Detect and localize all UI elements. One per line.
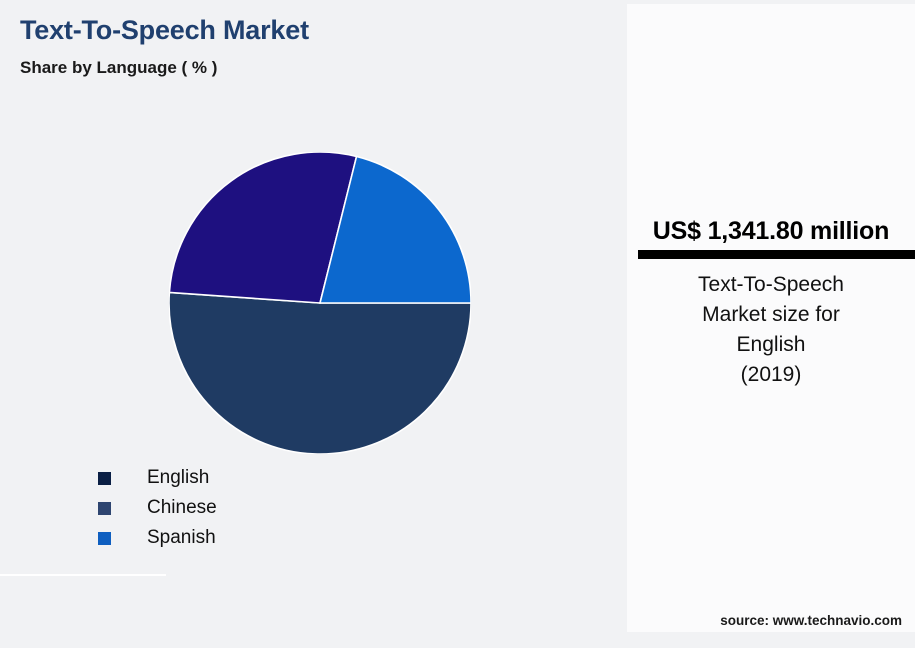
pie-chart-svg: [169, 152, 471, 454]
pie-chart: [169, 152, 471, 454]
kpi-caption-line: Market size for: [641, 300, 901, 330]
legend-swatch-icon: [98, 532, 111, 545]
legend-item-chinese[interactable]: Chinese: [98, 493, 217, 523]
legend-item-label: Spanish: [147, 527, 216, 549]
source-note: source: www.technavio.com: [627, 613, 902, 628]
pie-slice-english[interactable]: [169, 292, 471, 454]
kpi-caption: Text-To-Speech Market size for English (…: [641, 270, 901, 390]
kpi-caption-line: Text-To-Speech: [641, 270, 901, 300]
kpi-caption-line: (2019): [641, 360, 901, 390]
kpi-underline-bar: [638, 250, 915, 259]
chart-panel: Text-To-Speech Market Share by Language …: [0, 0, 622, 648]
infographic-root: Text-To-Speech Market Share by Language …: [0, 0, 915, 648]
legend-item-label: Chinese: [147, 497, 217, 519]
page-title: Text-To-Speech Market: [20, 15, 309, 46]
chart-legend: English Chinese Spanish: [98, 463, 217, 553]
decorative-divider: [0, 574, 166, 576]
kpi-panel: US$ 1,341.80 million Text-To-Speech Mark…: [627, 4, 915, 632]
legend-swatch-icon: [98, 502, 111, 515]
legend-item-spanish[interactable]: Spanish: [98, 523, 217, 553]
kpi-caption-line: English: [641, 330, 901, 360]
legend-swatch-icon: [98, 472, 111, 485]
legend-item-english[interactable]: English: [98, 463, 217, 493]
legend-item-label: English: [147, 467, 209, 489]
chart-subtitle: Share by Language ( % ): [20, 58, 217, 78]
kpi-value: US$ 1,341.80 million: [627, 217, 915, 246]
